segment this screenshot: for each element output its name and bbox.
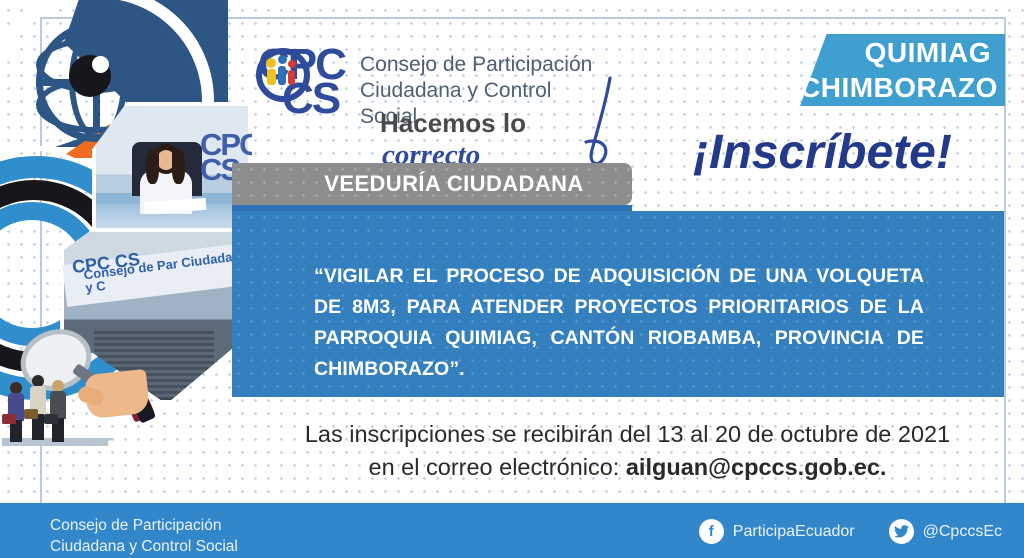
poster-canvas: CPC CS CPC CS Consejo de Par Ciudadana y…: [0, 0, 1024, 558]
cpccs-figure-yellow-head: [266, 58, 276, 68]
person-hair-right: [172, 150, 185, 184]
twitter-handle[interactable]: @CpccsEc: [923, 523, 1002, 541]
facebook-handle[interactable]: ParticipaEcuador: [733, 523, 855, 541]
location-banner: QUIMIAG CHIMBORAZO: [800, 34, 1005, 106]
cpccs-figure-red-head: [288, 60, 296, 68]
slogan-plain-text: Hacemos lo: [380, 108, 526, 138]
social-links: f ParticipaEcuador @CpccsEc: [699, 519, 1002, 544]
twitter-bird-glyph: [894, 525, 909, 538]
eye-highlight-icon: [92, 56, 109, 73]
section-title-band: VEEDURÍA CIUDADANA: [232, 163, 632, 205]
twitter-icon[interactable]: [889, 519, 914, 544]
cpccs-header-logo: CPC CS Consejo de Participación Ciudadan…: [258, 46, 603, 138]
section-title-label: VEEDURÍA CIUDADANA: [232, 163, 632, 205]
figure-briefcase: [24, 409, 38, 419]
cpccs-figure-red-body: [288, 70, 295, 85]
call-to-action-heading: ¡Inscríbete!: [640, 122, 1005, 186]
person-figure: [28, 375, 48, 435]
footer-organization-name: Consejo de Participación Ciudadana y Con…: [50, 515, 238, 557]
registration-email-prefix: en el correo electrónico:: [369, 454, 626, 480]
registration-dates: Las inscripciones se recibirán del 13 al…: [250, 418, 1005, 451]
person-hair-left: [146, 150, 159, 184]
location-line-2: CHIMBORAZO: [800, 70, 991, 105]
cpccs-figure-yellow-body: [267, 69, 276, 85]
person-figure: [6, 382, 26, 442]
registration-email-line: en el correo electrónico: ailguan@cpccs.…: [250, 451, 1005, 484]
registration-email-address[interactable]: ailguan@cpccs.gob.ec.: [626, 454, 887, 480]
objective-panel: “VIGILAR EL PROCESO DE ADQUISICIÓN DE UN…: [232, 211, 1004, 397]
registration-info: Las inscripciones se recibirán del 13 al…: [250, 418, 1005, 484]
figure-briefcase: [44, 414, 58, 424]
objective-text: “VIGILAR EL PROCESO DE ADQUISICIÓN DE UN…: [314, 261, 924, 385]
facebook-icon[interactable]: f: [699, 519, 724, 544]
figure-briefcase: [2, 414, 16, 424]
cpccs-figure-blue-body: [278, 66, 286, 85]
left-decorative-collage: CPC CS CPC CS Consejo de Par Ciudadana y…: [0, 0, 268, 470]
photo-woman-at-desk: CPC CS: [92, 102, 252, 242]
location-line-1: QUIMIAG: [800, 35, 991, 70]
cpccs-figure-blue-head: [278, 55, 287, 64]
person-figure: [48, 380, 68, 440]
page-footer: Consejo de Participación Ciudadana y Con…: [0, 503, 1024, 558]
logo-swoosh-icon: [576, 76, 620, 168]
